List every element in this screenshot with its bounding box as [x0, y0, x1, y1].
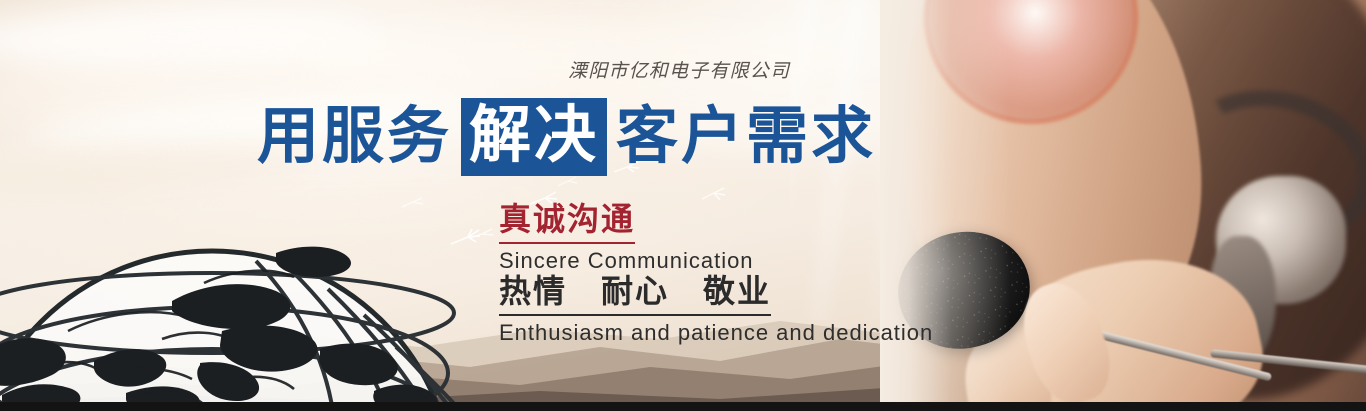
- tagline-sincere: 真诚沟通 Sincere Communication: [499, 200, 754, 274]
- wireframe-globe-icon: [0, 243, 496, 403]
- headline-prefix: 用服务: [255, 106, 454, 168]
- page-title: 用服务 解决 客户需求: [255, 98, 878, 176]
- headline-highlight: 解决: [461, 98, 607, 176]
- hero-banner: 溧阳市亿和电子有限公司 用服务 解决 客户需求 真诚沟通 Sincere Com…: [0, 0, 1366, 411]
- tagline-enthusiasm: 热情 耐心 敬业 Enthusiasm and patience and ded…: [499, 272, 933, 346]
- company-subtitle: 溧阳市亿和电子有限公司: [568, 56, 790, 83]
- tagline-cn: 热情 耐心 敬业: [499, 272, 771, 316]
- tagline-en: Enthusiasm and patience and dedication: [499, 320, 933, 346]
- tagline-en: Sincere Communication: [499, 248, 754, 274]
- headline-suffix: 客户需求: [614, 106, 878, 168]
- bottom-strip: [0, 402, 1366, 411]
- headset-operator-photo: [880, 0, 1366, 403]
- tagline-cn: 真诚沟通: [499, 200, 635, 244]
